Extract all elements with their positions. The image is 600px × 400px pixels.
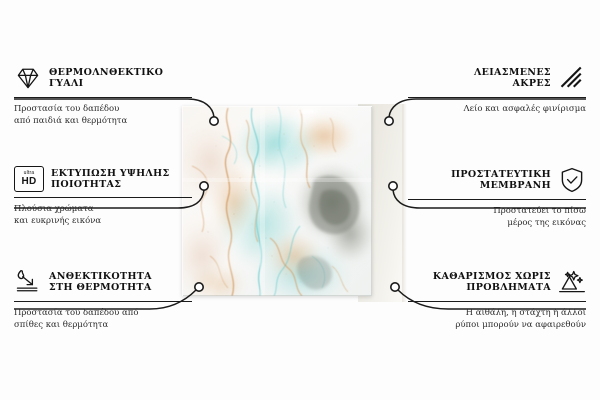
product-image — [182, 106, 404, 300]
ultra-hd-large-text: HD — [21, 176, 36, 187]
feature-divider — [14, 301, 192, 302]
diagonal-hatch-icon — [558, 64, 586, 92]
feature-title-line: ΚΑΘΑΡΙΣΜΟΣ ΧΩΡΙΣ — [433, 271, 551, 282]
feature-desc-line: Προστατεύει το πίσω — [408, 205, 586, 217]
feature-heat-durability: ΑΝΘΕΚΤΙΚΟΤΗΤΑ ΣΤΗ ΘΕΡΜΟΤΗΤΑ Προστασία το… — [14, 268, 192, 331]
feature-title-line: ΠΟΙΟΤΗΤΑΣ — [51, 179, 170, 190]
marble-print-artwork — [182, 106, 372, 296]
feature-high-quality-print: ultra HD ΕΚΤΥΠΩΣΗ ΥΨΗΛΗΣ ΠΟΙΟΤΗΤΑΣ Πλούσ… — [14, 166, 192, 227]
feature-desc-line: μέρος της εικόνας — [408, 217, 586, 229]
product-front-glass — [182, 106, 372, 296]
feature-desc-line: και ευκρινής εικόνα — [14, 215, 192, 227]
feature-title-line: ΑΚΡΕΣ — [474, 78, 551, 89]
feature-protective-membrane: ΠΡΟΣΤΑΤΕΥΤΙΚΗ ΜΕΜΒΡΑΝΗ Προστατεύει το πί… — [408, 166, 586, 229]
feature-desc-line: Λείο και ασφαλές φινίρισμα — [408, 103, 586, 115]
feature-desc-line: ρύποι μπορούν να αφαιρεθούν — [408, 319, 586, 331]
feature-title-line: ΓΥΑΛΙ — [49, 78, 163, 89]
feature-desc-line: από παιδιά και θερμότητα — [14, 115, 192, 127]
feature-desc-line: σπίθες και θερμότητα — [14, 319, 192, 331]
feature-title-line: ΠΡΟΒΛΗΜΑΤΑ — [433, 282, 551, 293]
feature-title-line: ΘΕΡΜΟΛΝΘΕΚΤΙΚΟ — [49, 67, 163, 78]
shield-check-icon — [558, 166, 586, 194]
feature-desc-line: Η αιθάλη, η στάχτη ή άλλοι — [408, 307, 586, 319]
ultra-hd-badge-icon: ultra HD — [14, 166, 44, 192]
feature-divider — [14, 197, 192, 198]
infographic-canvas: ΘΕΡΜΟΛΝΘΕΚΤΙΚΟ ΓΥΑΛΙ Προστασία του δαπέδ… — [0, 0, 600, 400]
feature-title-line: ΛΕΙΑΣΜΕΝΕΣ — [474, 67, 551, 78]
feature-divider — [408, 199, 586, 200]
feature-divider — [408, 97, 586, 98]
feature-heat-resistant-glass: ΘΕΡΜΟΛΝΘΕΚΤΙΚΟ ΓΥΑΛΙ Προστασία του δαπέδ… — [14, 64, 192, 127]
feature-polished-edges: ΛΕΙΑΣΜΕΝΕΣ ΑΚΡΕΣ Λείο και ασφαλές φινίρι… — [408, 64, 586, 115]
flame-arrow-surface-icon — [14, 268, 42, 296]
feature-title-line: ΑΝΘΕΚΤΙΚΟΤΗΤΑ — [49, 271, 152, 282]
feature-desc-line: Πλούσια χρώματα — [14, 203, 192, 215]
feature-title-line: ΠΡΟΣΤΑΤΕΥΤΙΚΗ — [451, 169, 551, 180]
feature-title-line: ΜΕΜΒΡΑΝΗ — [451, 180, 551, 191]
feature-divider — [14, 97, 192, 98]
feature-easy-cleaning: ΚΑΘΑΡΙΣΜΟΣ ΧΩΡΙΣ ΠΡΟΒΛΗΜΑΤΑ Η αιθάλη, η … — [408, 268, 586, 331]
diamond-icon — [14, 64, 42, 92]
feature-title-line: ΕΚΤΥΠΩΣΗ ΥΨΗΛΗΣ — [51, 168, 170, 179]
feature-title-line: ΣΤΗ ΘΕΡΜΟΤΗΤΑ — [49, 282, 152, 293]
feature-desc-line: Προστασία του δαπέδου — [14, 103, 192, 115]
feature-desc-line: Προστασία του δαπέδου από — [14, 307, 192, 319]
sparkle-wipe-icon — [558, 268, 586, 296]
feature-divider — [408, 301, 586, 302]
